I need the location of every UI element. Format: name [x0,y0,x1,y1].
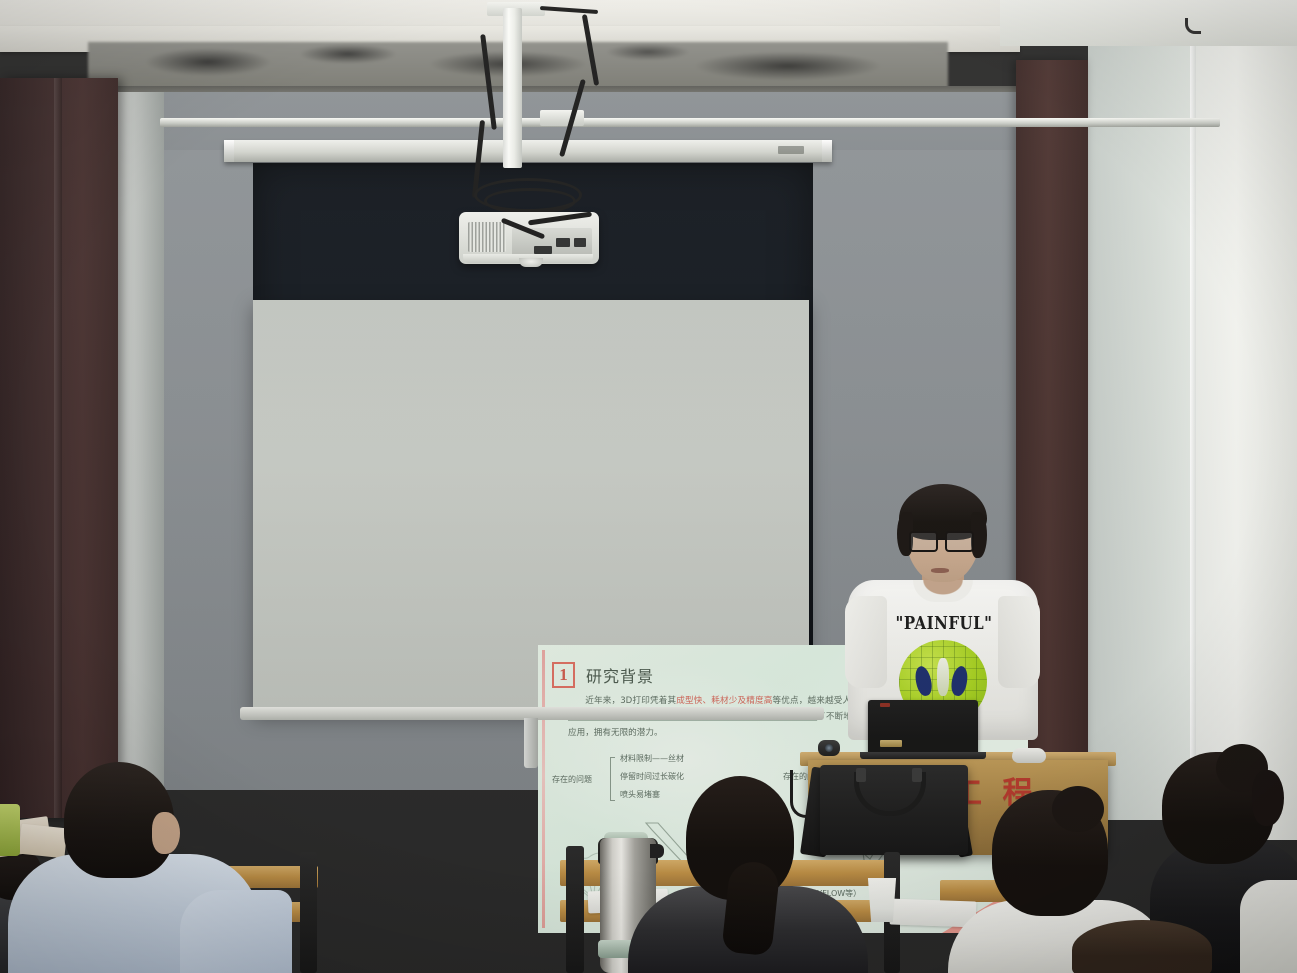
bag-clip-right [912,768,922,782]
presenter-mouth [931,568,949,573]
presenter-sleeve-right [998,596,1040,688]
projector-vent-grille [468,222,506,252]
cups-stack-left-2 [19,824,68,859]
right-wall-panel [1088,40,1200,820]
screen-pull-handle[interactable] [524,718,538,768]
group-left-brace [610,757,615,801]
glasses-bridge [937,538,946,540]
body-line1-pre: 近年来，3D打印凭着其 [585,696,676,706]
globe-nose [937,658,949,696]
group-left-item-0: 材料限制——丝材 [620,750,684,768]
audience-far-right-sleeve [1240,880,1297,973]
audience-blue-shirt-ear [152,812,180,854]
projector-pole [503,8,522,168]
projector-port-usb [574,238,586,247]
glasses-icon [909,531,938,552]
desk-frame-center-left [566,846,584,973]
projector-cable-coil-2 [484,188,576,214]
projector-port-hdmi [556,238,570,247]
audience-blue-shirt-arm [180,890,292,973]
group-left-item-1: 停留时间过长碳化 [620,768,684,786]
projector-lens [519,258,543,267]
computer-mouse[interactable] [1012,748,1046,763]
laptop-logo [880,703,890,707]
laptop-badge [880,740,902,747]
body-highlight-2: 耗材少及精度高 [711,696,772,706]
tshirt-text: "PAINFUL" [883,613,1005,634]
thermos-spout [650,844,664,858]
left-pillar-seam [54,78,62,818]
paper-cup [866,878,898,922]
right-ceiling-return [1000,0,1297,46]
green-object-left [0,804,20,856]
audience-brown-hair-head [1072,920,1212,973]
ceiling-rail [160,118,1220,127]
group-left-items: 材料限制——丝材 停留时间过长碳化 喷头易堵塞 [620,750,684,804]
laptop-base [860,752,986,759]
desk-frame-left-2 [300,852,317,973]
classroom-photo: 1 研究背景 近年来，3D打印凭着其成型快、耗材少及精度高等优点，越来越受人们的… [0,0,1297,973]
screen-housing-logo [778,146,804,154]
slide-title: 研究背景 [586,663,654,687]
slide-section-number: 1 [552,662,575,688]
papers-on-desk-right [890,899,977,928]
projection-screen: 1 研究背景 近年来，3D打印凭着其成型快、耗材少及精度高等优点，越来越受人们的… [253,300,809,713]
group-left-label: 存在的问题 [552,774,592,785]
bag-clip-left [856,768,866,782]
audience-ponytail-hair [721,860,780,957]
webcam-lens-icon [825,744,833,752]
glasses-icon [945,531,974,552]
screen-housing [224,140,832,162]
screen-housing-cap-left [224,140,234,162]
screen-housing-cap-right [822,140,832,162]
audience-white-top-hair-bun [1052,786,1104,832]
audience-black-top-hair-strand [1252,770,1284,826]
slide-accent-bar [542,650,545,928]
projector-port-vga [534,246,552,254]
left-wall-strip [118,92,164,818]
presenter-sleeve-left [845,596,887,688]
group-left-item-2: 喷头易堵塞 [620,786,684,804]
rail-bracket [540,110,584,126]
body-highlight-1: 成型快、 [676,696,711,706]
